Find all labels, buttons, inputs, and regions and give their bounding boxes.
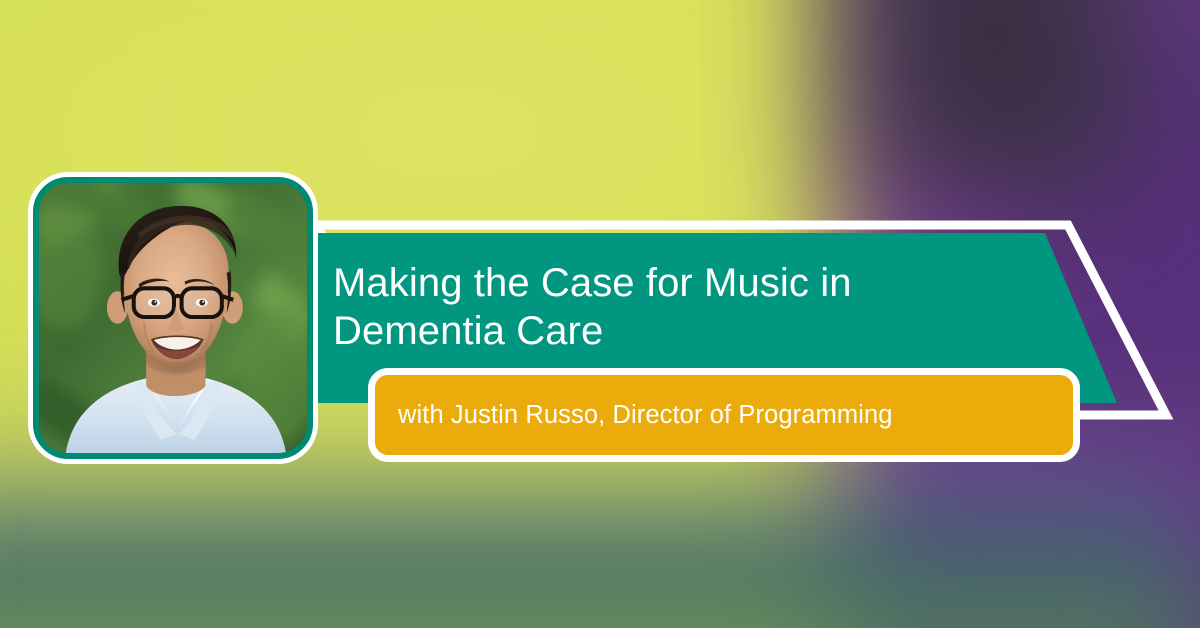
promo-banner-canvas: Making the Case for Music in Dementia Ca… xyxy=(0,0,1200,628)
background-green-bottom-blob xyxy=(0,560,1200,628)
speaker-badge-label: with Justin Russo, Director of Programmi… xyxy=(375,400,893,430)
speaker-portrait-inner-border xyxy=(33,177,313,459)
page-title: Making the Case for Music in Dementia Ca… xyxy=(333,259,973,355)
speaker-badge: with Justin Russo, Director of Programmi… xyxy=(368,368,1080,462)
speaker-portrait-photo xyxy=(39,183,307,453)
background-dark-corner-blob xyxy=(830,0,1160,210)
speaker-portrait-frame xyxy=(28,172,318,464)
